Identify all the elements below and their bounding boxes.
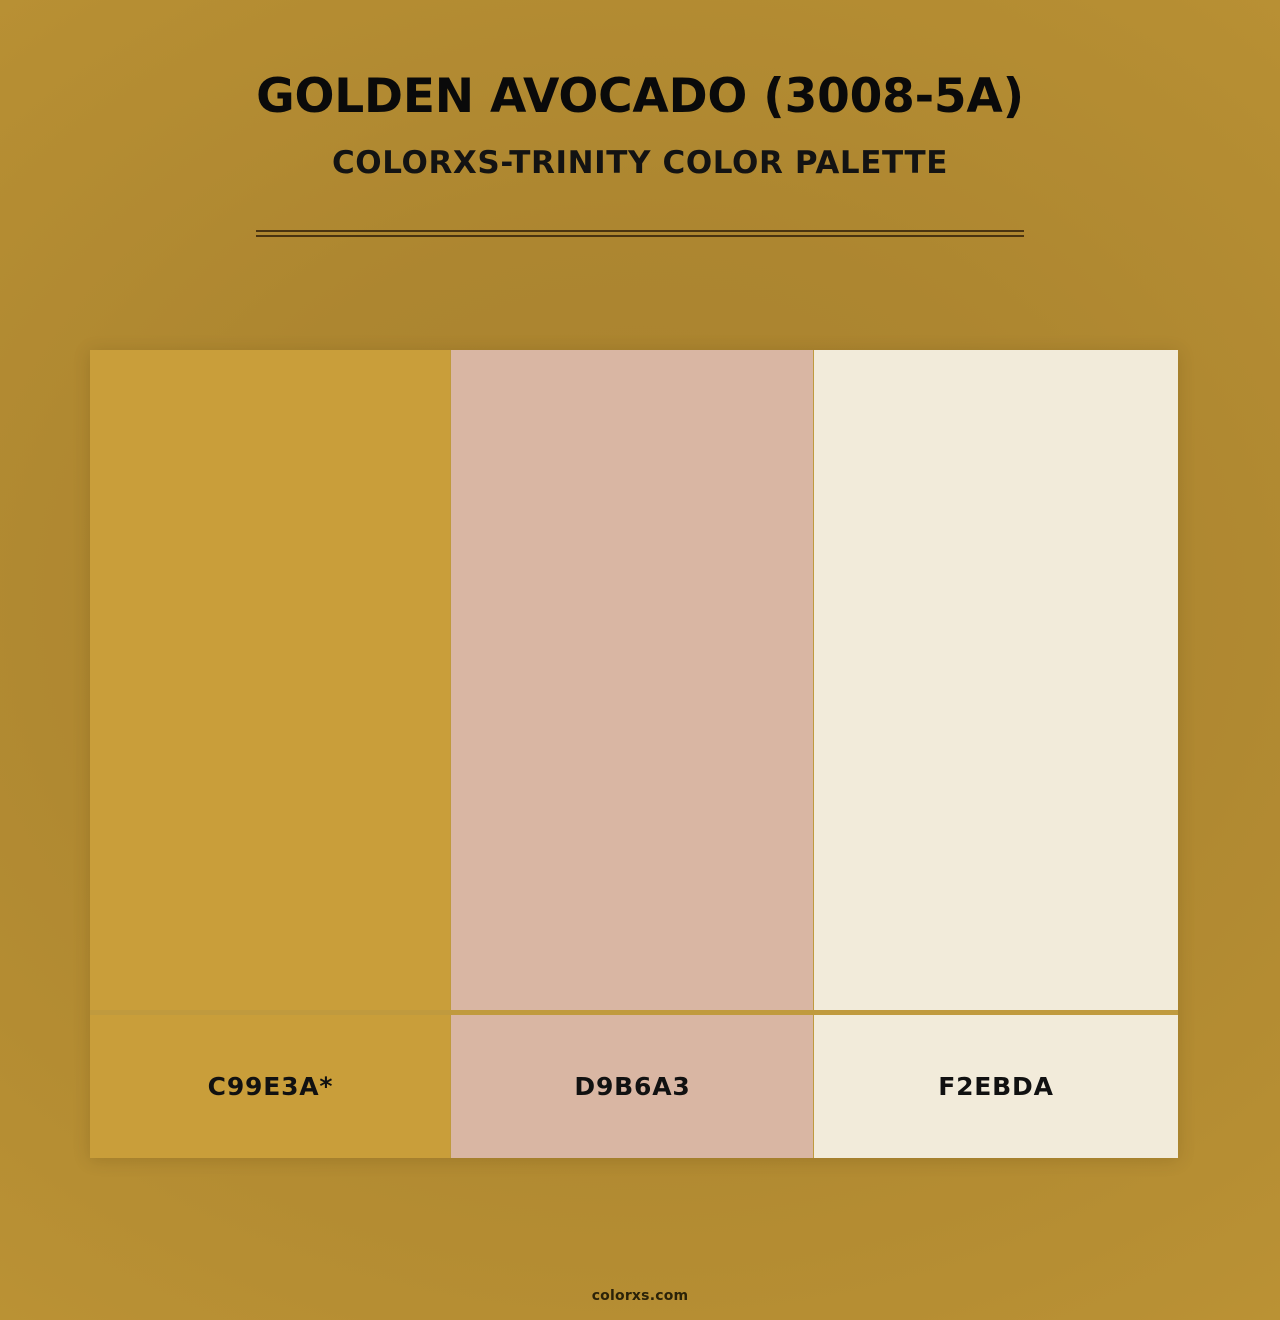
page-footer: colorxs.com [0, 1285, 1280, 1304]
color-swatch[interactable] [451, 350, 814, 1010]
header-divider [256, 230, 1024, 237]
swatch-label-cell[interactable]: C99E3A* [90, 1015, 451, 1158]
swatch-hex-label: F2EBDA [938, 1072, 1054, 1101]
swatch-label-cell[interactable]: D9B6A3 [451, 1015, 814, 1158]
page-header: GOLDEN AVOCADO (3008-5A) COLORXS-TRINITY… [0, 0, 1280, 180]
swatch-hex-label: C99E3A* [208, 1072, 334, 1101]
color-palette-page: GOLDEN AVOCADO (3008-5A) COLORXS-TRINITY… [0, 0, 1280, 1320]
color-swatch[interactable] [90, 350, 451, 1010]
swatch-row [90, 350, 1178, 1010]
site-credit: colorxs.com [592, 1288, 689, 1304]
swatch-hex-label: D9B6A3 [574, 1072, 690, 1101]
divider-line-top [256, 230, 1024, 232]
swatch-label-cell[interactable]: F2EBDA [814, 1015, 1178, 1158]
palette-panel: C99E3A* D9B6A3 F2EBDA [90, 350, 1178, 1158]
page-title: GOLDEN AVOCADO (3008-5A) [0, 0, 1280, 121]
page-subtitle: COLORXS-TRINITY COLOR PALETTE [0, 121, 1280, 180]
divider-line-bottom [256, 235, 1024, 237]
color-swatch[interactable] [814, 350, 1178, 1010]
label-row: C99E3A* D9B6A3 F2EBDA [90, 1015, 1178, 1158]
